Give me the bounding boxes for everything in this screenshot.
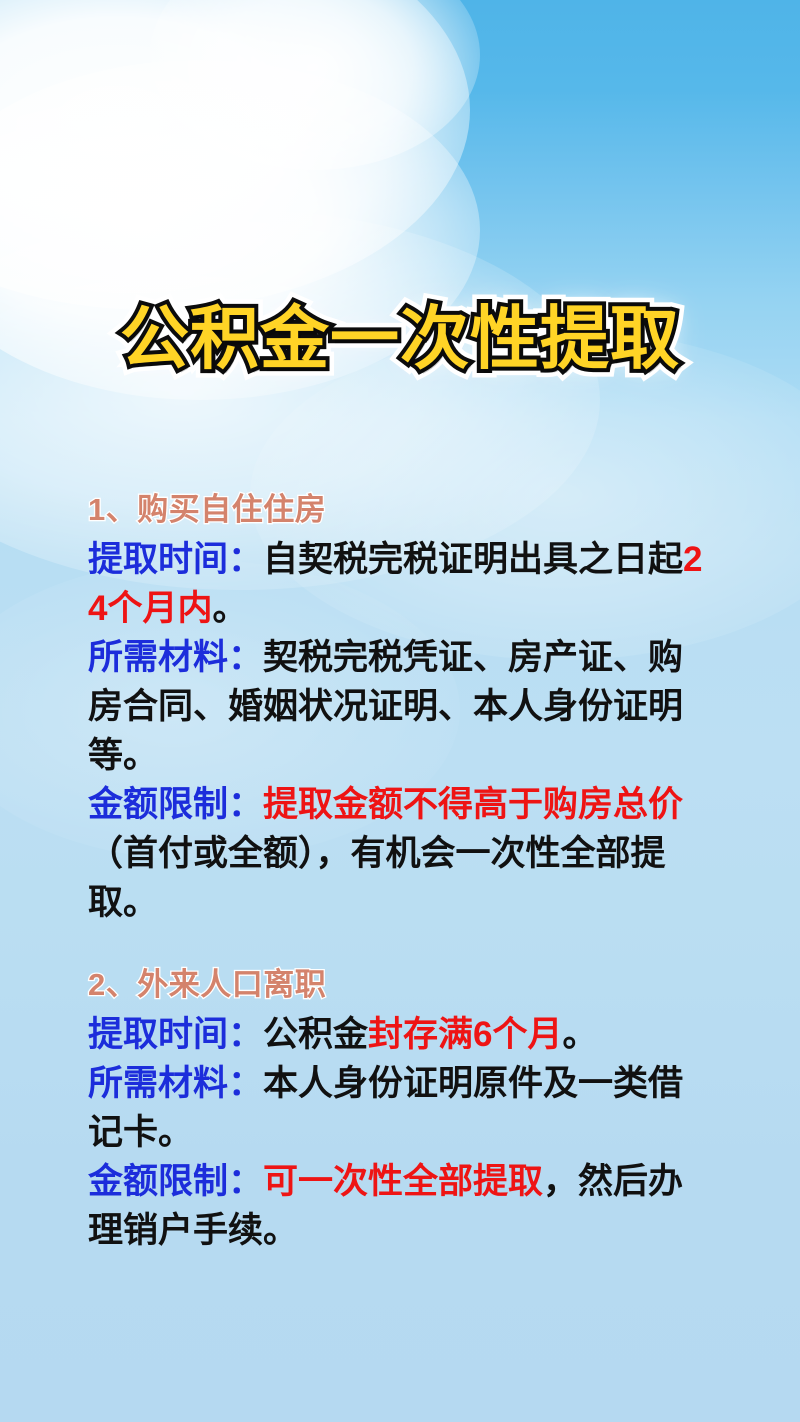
info-row: 提取时间：公积金封存满6个月。 [88, 1010, 710, 1059]
info-section: 2、外来人口离职提取时间：公积金封存满6个月。所需材料：本人身份证明原件及一类借… [88, 963, 710, 1255]
page-title: 公积金一次性提取 公积金一次性提取 [0, 296, 800, 382]
info-row-label: 提取时间： [88, 1015, 263, 1054]
cloud-shape [150, 0, 480, 170]
cloud-shape [0, 0, 470, 310]
page-title-text: 公积金一次性提取 [0, 296, 800, 382]
content-body: 1、购买自住住房提取时间：自契税完税证明出具之日起24个月内。所需材料：契税完税… [88, 488, 710, 1255]
section-heading: 2、外来人口离职 [88, 963, 710, 1007]
info-row-highlight: 可一次性全部提取 [263, 1162, 543, 1201]
info-row-label: 金额限制： [88, 785, 263, 824]
info-row-label: 所需材料： [88, 638, 263, 677]
info-row-label: 所需材料： [88, 1064, 263, 1103]
info-row-highlight: 封存满6个月 [368, 1015, 562, 1054]
info-row: 金额限制：可一次性全部提取，然后办理销户手续。 [88, 1157, 710, 1255]
info-row-text: 。 [563, 1015, 598, 1054]
info-row: 提取时间：自契税完税证明出具之日起24个月内。 [88, 535, 710, 633]
info-row-text: （首付或全额），有机会一次性全部提取。 [88, 834, 666, 922]
info-row: 金额限制：提取金额不得高于购房总价（首付或全额），有机会一次性全部提取。 [88, 780, 710, 927]
info-row-label: 金额限制： [88, 1162, 263, 1201]
info-row-highlight: 提取金额不得高于购房总价 [263, 785, 683, 824]
info-row-text: 公积金 [263, 1015, 368, 1054]
info-row-label: 提取时间： [88, 540, 263, 579]
info-row-text: 。 [212, 589, 247, 628]
info-section: 1、购买自住住房提取时间：自契税完税证明出具之日起24个月内。所需材料：契税完税… [88, 488, 710, 927]
info-row: 所需材料：本人身份证明原件及一类借记卡。 [88, 1059, 710, 1157]
poster-canvas: 公积金一次性提取 公积金一次性提取 1、购买自住住房提取时间：自契税完税证明出具… [0, 0, 800, 1422]
info-row: 所需材料：契税完税凭证、房产证、购房合同、婚姻状况证明、本人身份证明等。 [88, 633, 710, 780]
section-heading: 1、购买自住住房 [88, 488, 710, 532]
info-row-text: 自契税完税证明出具之日起 [263, 540, 683, 579]
